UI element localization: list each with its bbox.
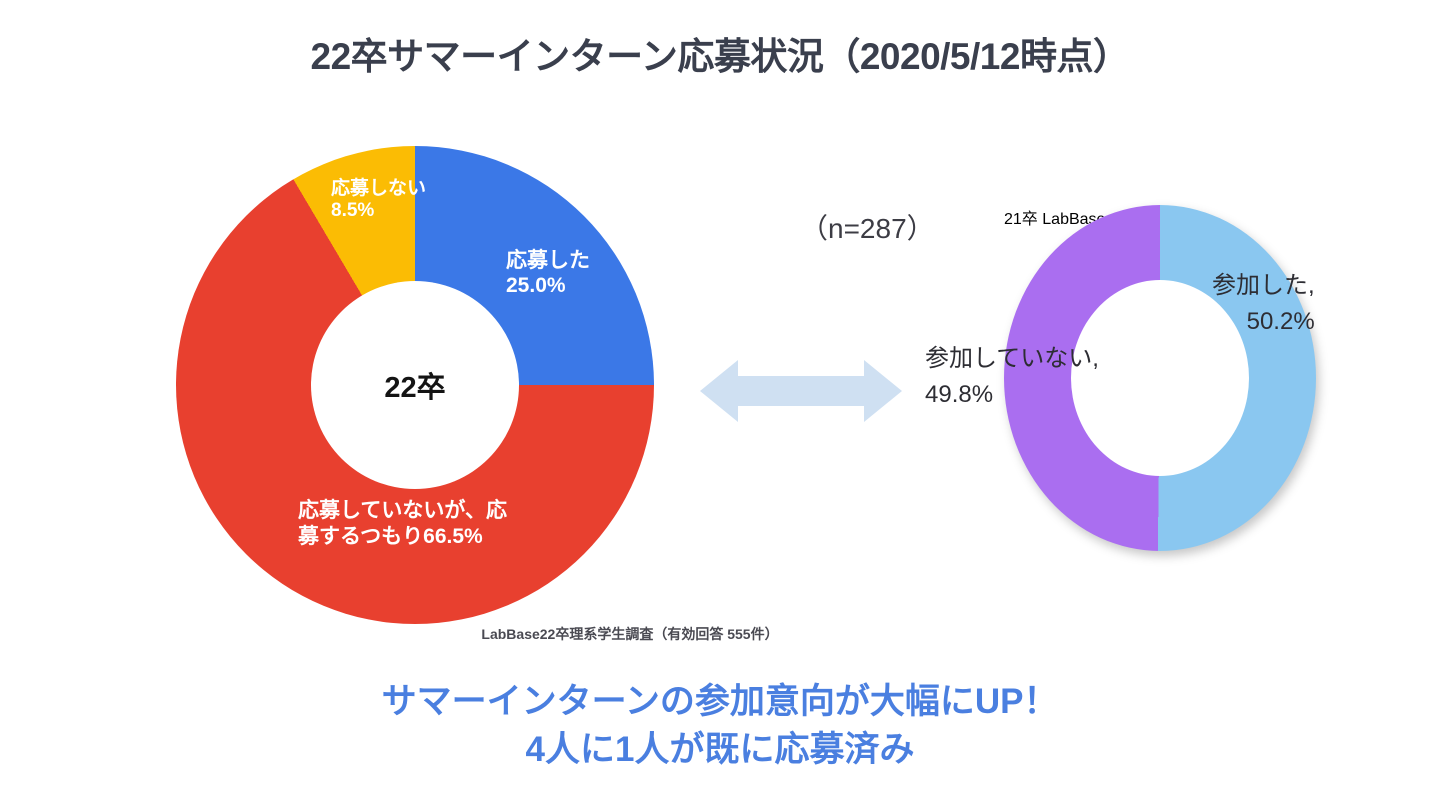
slice-label-not-apply-text: 応募しない	[331, 178, 426, 199]
sample-size-annotation: （n=287）	[800, 207, 935, 247]
donut-center-grad-21sotsu: 21卒	[1004, 211, 1038, 228]
slice-label-not-participated: 参加していない, 49.8%	[925, 341, 1099, 413]
slice-label-not-participated-pct: 49.8%	[925, 377, 1099, 413]
slice-label-applied-pct: 25.0%	[506, 274, 590, 299]
slice-label-participated: 参加した, 50.2%	[1212, 268, 1315, 340]
donut-chart-22sotsu: 22卒 応募した 25.0% 応募しない 8.5% 応募していないが、応 募する…	[176, 146, 654, 624]
caption-line-2: 4人に1人が既に応募済み	[0, 726, 1440, 774]
slice-label-will-apply-line2: 募するつもり66.5%	[298, 524, 507, 550]
slice-label-participated-text: 参加した,	[1212, 272, 1315, 299]
slice-label-not-participated-line1: 参加していない,	[925, 345, 1099, 372]
double-arrow-icon	[700, 358, 902, 424]
slice-label-applied-text: 応募した	[506, 249, 590, 272]
caption: サマーインターンの参加意向が大幅にUP！ 4人に1人が既に応募済み	[0, 678, 1440, 775]
donut-center-label-22sotsu: 22卒	[384, 364, 445, 406]
slide-canvas: 22卒サマーインターン応募状況（2020/5/12時点） 22卒 応募した 25…	[0, 0, 1440, 801]
slice-label-will-apply: 応募していないが、応 募するつもり66.5%	[298, 498, 507, 551]
page-title: 22卒サマーインターン応募状況（2020/5/12時点）	[0, 26, 1440, 80]
slice-label-applied: 応募した 25.0%	[506, 249, 590, 299]
source-note: LabBase22卒理系学生調査（有効回答 555件）	[300, 624, 960, 644]
slice-label-not-apply-pct: 8.5%	[331, 200, 426, 222]
slice-label-not-apply: 応募しない 8.5%	[331, 178, 426, 223]
caption-line-1: サマーインターンの参加意向が大幅にUP！	[382, 682, 1059, 721]
slice-label-participated-pct: 50.2%	[1212, 304, 1315, 340]
slice-label-will-apply-line1: 応募していないが、応	[298, 499, 507, 522]
